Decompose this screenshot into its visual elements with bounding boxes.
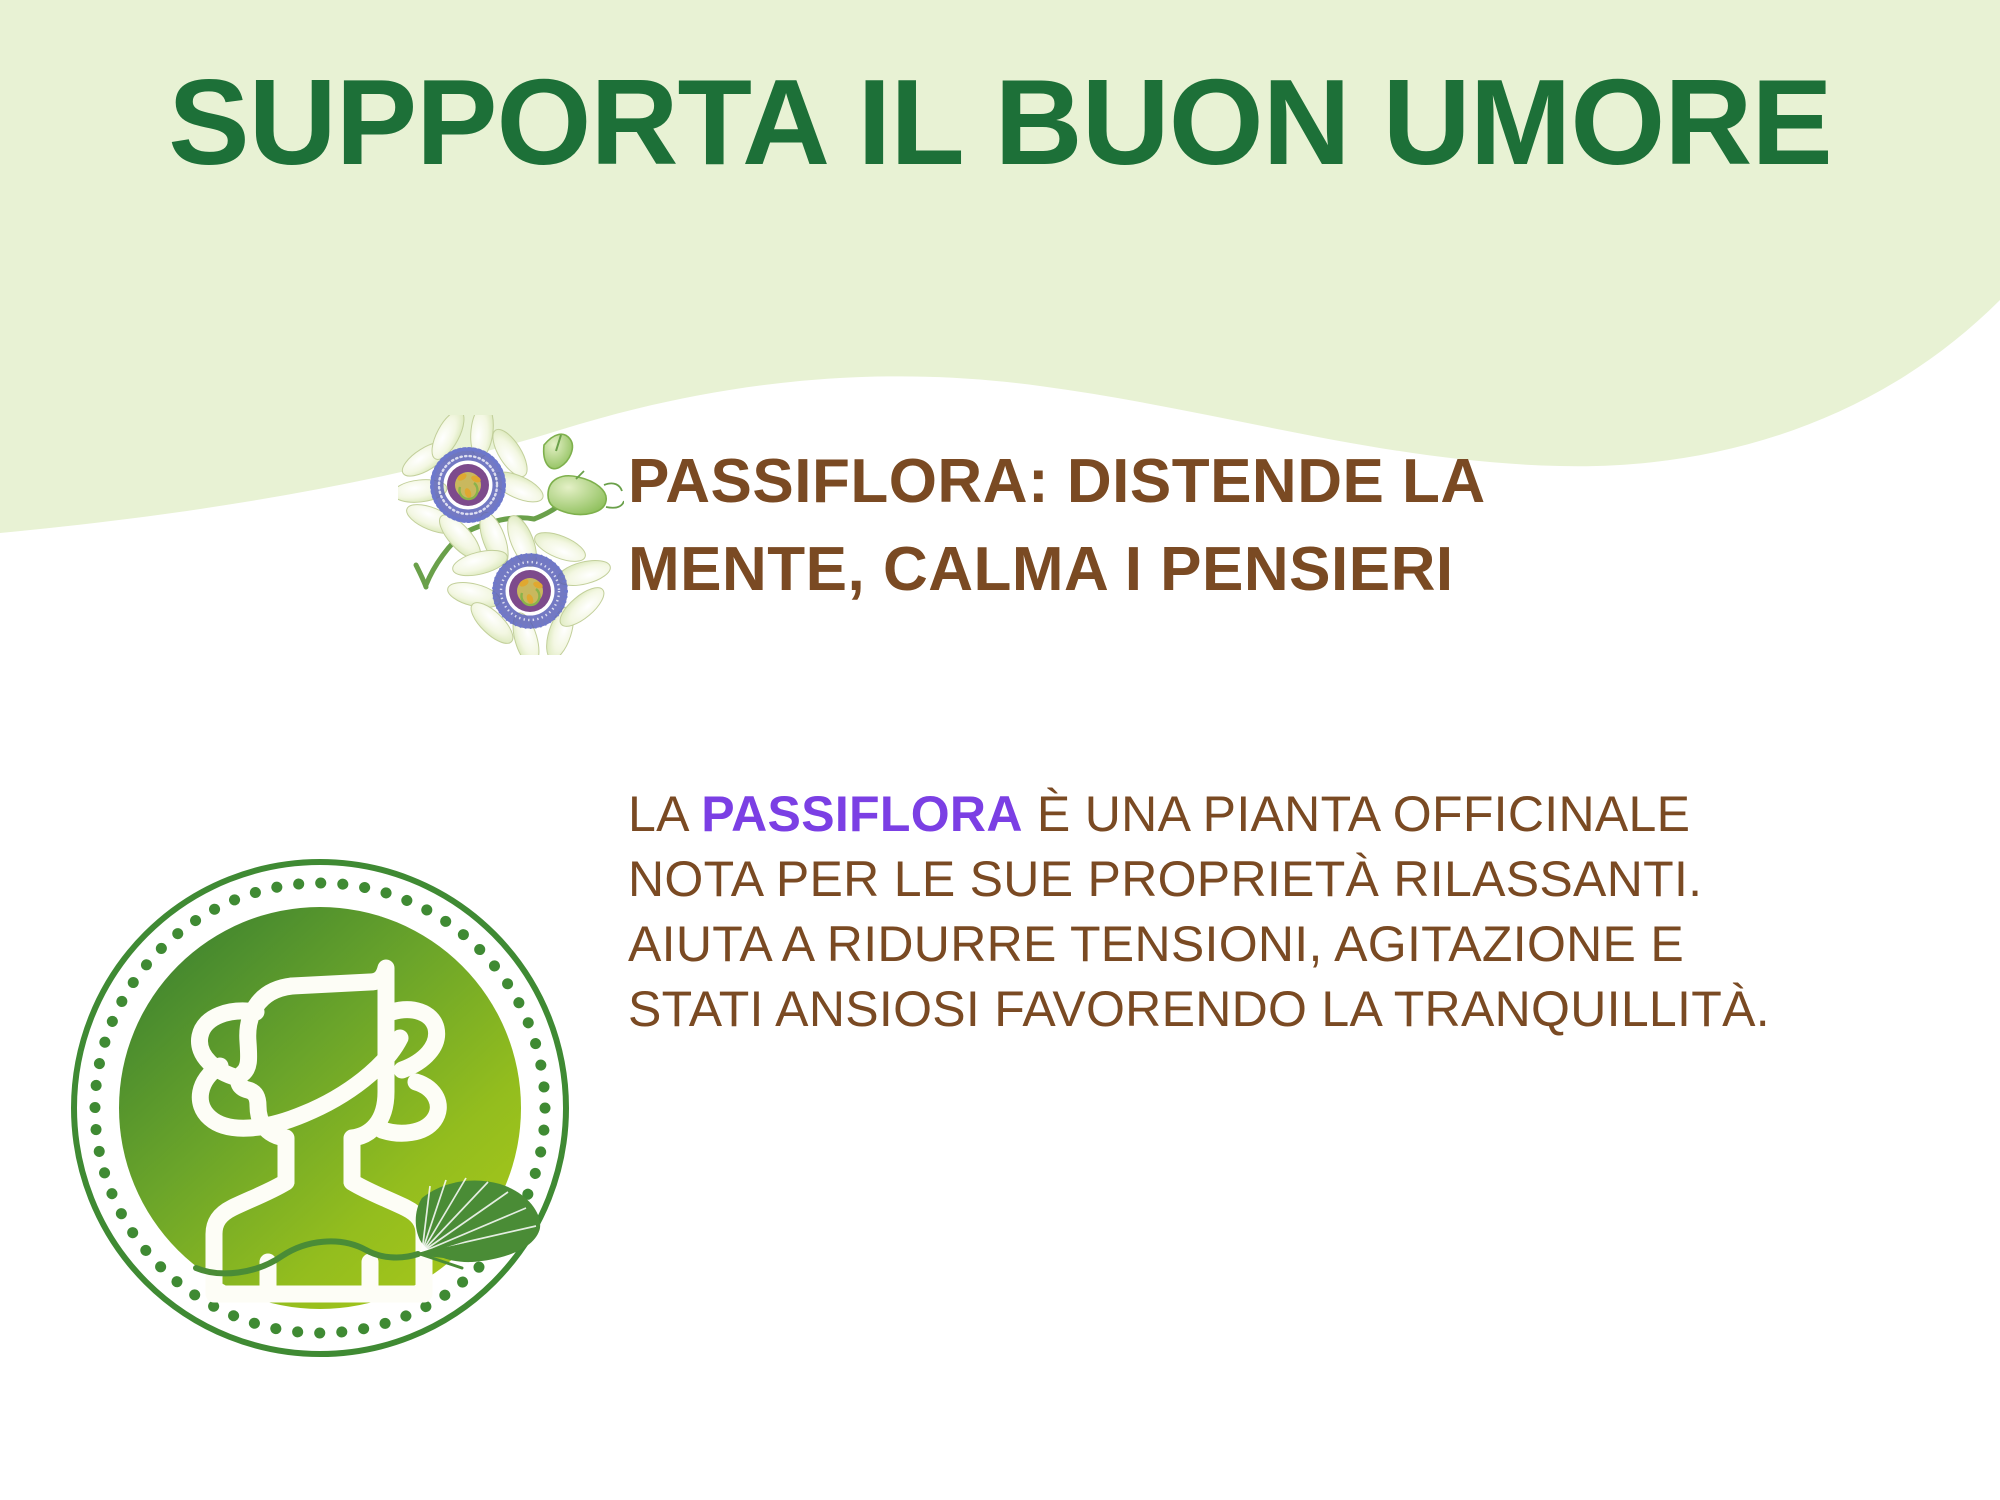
- body-line-1-suffix: È UNA PIANTA OFFICINALE: [1023, 786, 1691, 842]
- body-copy: LA PASSIFLORA È UNA PIANTA OFFICINALE NO…: [628, 782, 1958, 1042]
- body-line-1-prefix: LA: [628, 786, 701, 842]
- page-title: SUPPORTA IL BUON UMORE: [0, 58, 2000, 186]
- passiflora-flower-icon: [398, 415, 624, 655]
- body-line-2: NOTA PER LE SUE PROPRIETÀ RILASSANTI.: [628, 847, 1958, 912]
- section-heading-line-1: PASSIFLORA: DISTENDE LA: [628, 438, 1848, 526]
- section-heading-line-2: MENTE, CALMA I PENSIERI: [628, 526, 1848, 614]
- body-line-4: STATI ANSIOSI FAVORENDO LA TRANQUILLITÀ.: [628, 977, 1958, 1042]
- section-heading: PASSIFLORA: DISTENDE LA MENTE, CALMA I P…: [628, 438, 1848, 614]
- page-title-container: SUPPORTA IL BUON UMORE: [0, 58, 2000, 186]
- body-line-3: AIUTA A RIDURRE TENSIONI, AGITAZIONE E: [628, 912, 1958, 977]
- body-line-1: LA PASSIFLORA È UNA PIANTA OFFICINALE: [628, 782, 1958, 847]
- body-highlight-passiflora: PASSIFLORA: [701, 786, 1023, 842]
- flower-buds: [544, 434, 624, 514]
- calm-mind-badge: [70, 830, 590, 1390]
